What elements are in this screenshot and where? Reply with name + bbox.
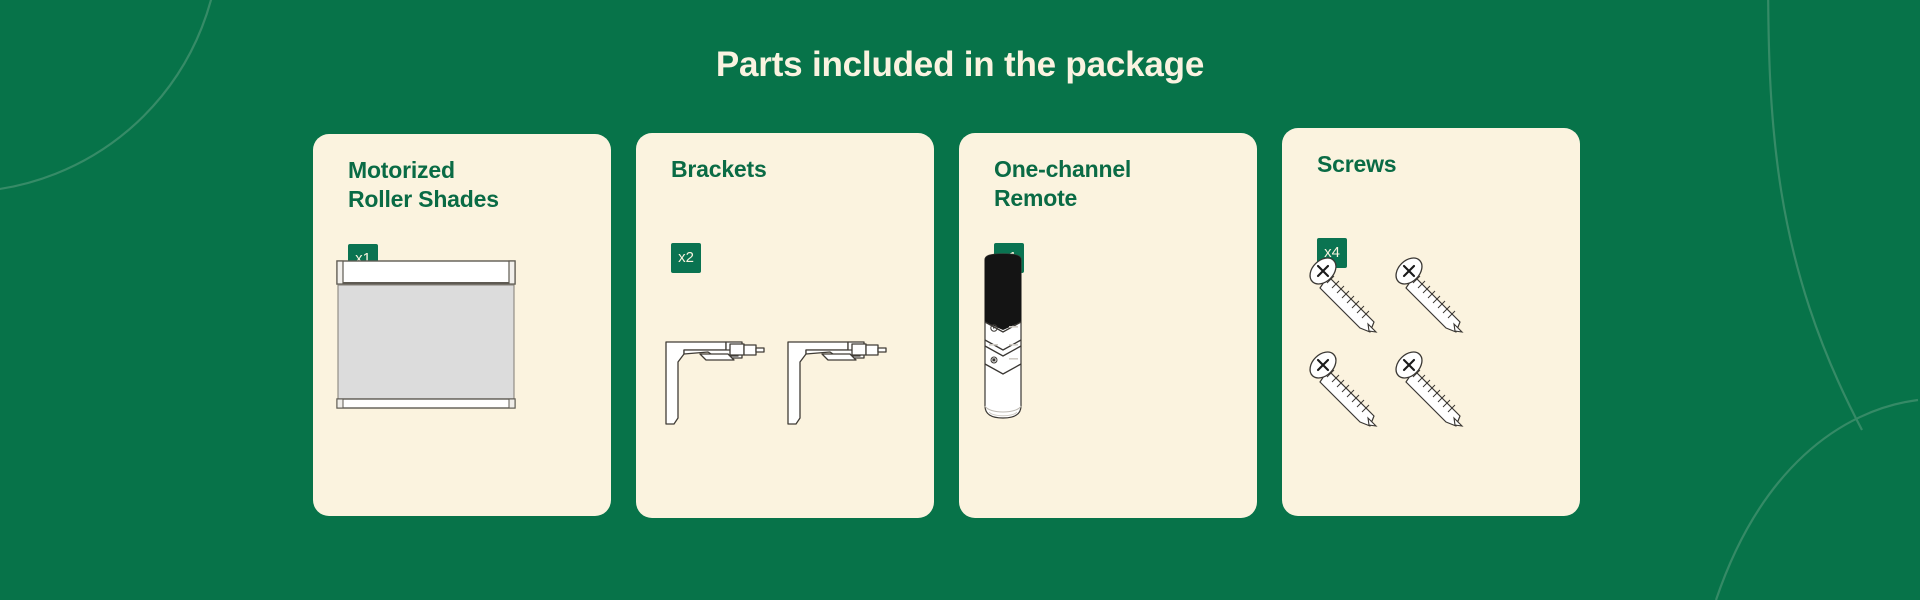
part-card-brackets[interactable]: Brackets x2 (636, 133, 934, 518)
part-card-roller-shades[interactable]: Motorized Roller Shades x1 (313, 134, 611, 516)
brackets-illustration (636, 248, 934, 518)
parts-included-section: Parts included in the package Motorized … (0, 0, 1920, 600)
card-title: Motorized Roller Shades (348, 156, 588, 215)
part-card-remote[interactable]: One-channel Remote x1 (959, 133, 1257, 518)
card-title: Brackets (671, 155, 911, 184)
card-title: Screws (1317, 150, 1557, 179)
remote-illustration (959, 248, 1257, 518)
part-card-screws[interactable]: Screws x4 (1282, 128, 1580, 516)
page-title: Parts included in the package (0, 44, 1920, 86)
card-title: One-channel Remote (994, 155, 1234, 214)
roller-shade-illustration (313, 246, 611, 516)
parts-card-list: Motorized Roller Shades x1 (313, 133, 1613, 518)
screws-illustration (1282, 246, 1580, 516)
